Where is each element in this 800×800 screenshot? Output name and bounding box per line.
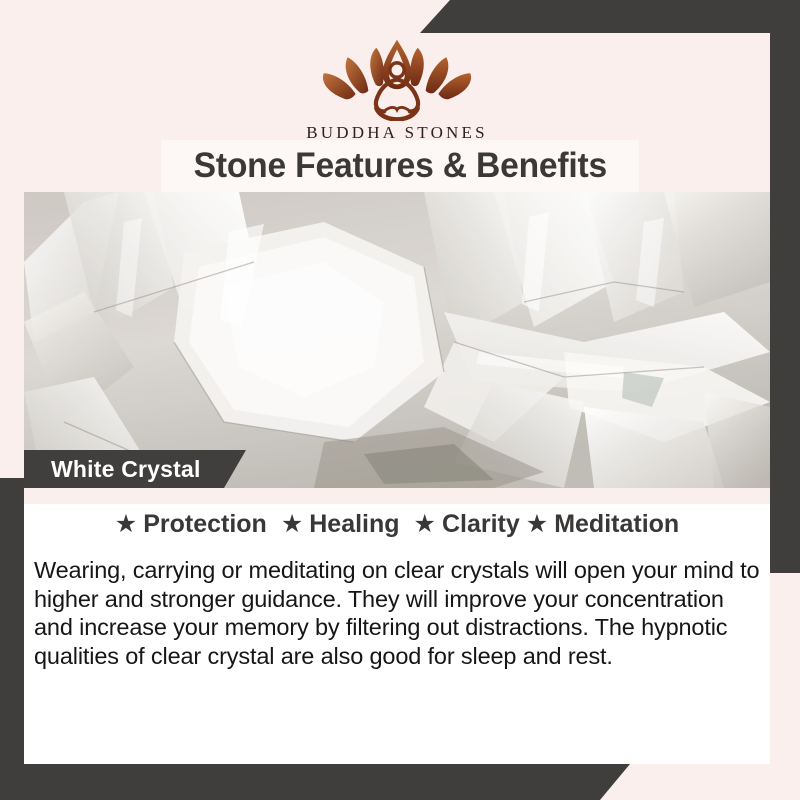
benefit-label: Meditation bbox=[554, 510, 679, 539]
description-block: Wearing, carrying or meditating on clear… bbox=[34, 556, 762, 671]
benefit-clarity: ★ Clarity bbox=[414, 510, 520, 539]
decorative-band-bottom bbox=[0, 764, 630, 800]
benefit-protection: ★ Protection bbox=[115, 510, 267, 539]
crystal-photo bbox=[24, 192, 770, 488]
stone-name-label: White Crystal bbox=[51, 456, 201, 483]
benefit-label: Protection bbox=[143, 510, 267, 539]
lotus-meditation-icon bbox=[309, 35, 485, 121]
content-top-strip bbox=[24, 488, 770, 504]
benefit-healing: ★ Healing bbox=[281, 510, 400, 539]
decorative-band-left bbox=[0, 478, 24, 800]
star-icon: ★ bbox=[115, 512, 137, 537]
benefit-label: Healing bbox=[309, 510, 399, 539]
title-band: Stone Features & Benefits bbox=[161, 140, 639, 192]
benefit-label: Clarity bbox=[442, 510, 520, 539]
poster-root: BUDDHA STONES Stone Features & Benefits bbox=[0, 0, 800, 800]
star-icon: ★ bbox=[414, 512, 436, 537]
star-icon: ★ bbox=[526, 512, 548, 537]
star-icon: ★ bbox=[281, 512, 303, 537]
stone-name-badge: White Crystal bbox=[24, 450, 246, 488]
decorative-band-right bbox=[770, 33, 800, 573]
decorative-band-top bbox=[420, 0, 800, 33]
benefit-meditation: ★ Meditation bbox=[526, 510, 679, 539]
benefit-keywords: ★ Protection ★ Healing ★ Clarity ★ Medit… bbox=[24, 510, 770, 539]
brand-logo: BUDDHA STONES bbox=[24, 35, 770, 143]
page-title: Stone Features & Benefits bbox=[193, 146, 606, 186]
description-text: Wearing, carrying or meditating on clear… bbox=[34, 556, 762, 671]
content-card: ★ Protection ★ Healing ★ Clarity ★ Medit… bbox=[24, 488, 770, 764]
